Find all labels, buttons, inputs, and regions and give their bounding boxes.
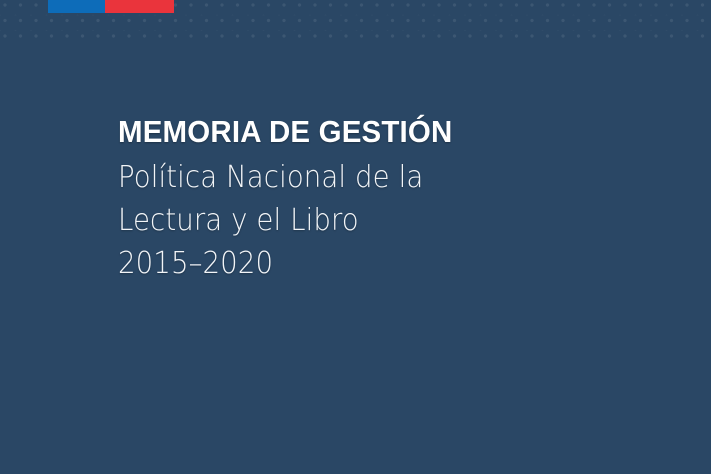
document-cover: MEMORIA DE GESTIÓN Política Nacional de … — [0, 0, 711, 474]
page-title: MEMORIA DE GESTIÓN — [118, 112, 631, 152]
subtitle-line-1: Política Nacional de la — [118, 156, 615, 199]
flag-red-segment — [105, 0, 174, 13]
title-block: MEMORIA DE GESTIÓN Política Nacional de … — [118, 112, 658, 285]
subtitle-line-2: Lectura y el Libro — [118, 199, 615, 242]
flag-blue-segment — [48, 0, 105, 13]
chilean-flag-bar — [48, 0, 174, 13]
subtitle-line-3-date-range: 2015–2020 — [118, 242, 615, 285]
